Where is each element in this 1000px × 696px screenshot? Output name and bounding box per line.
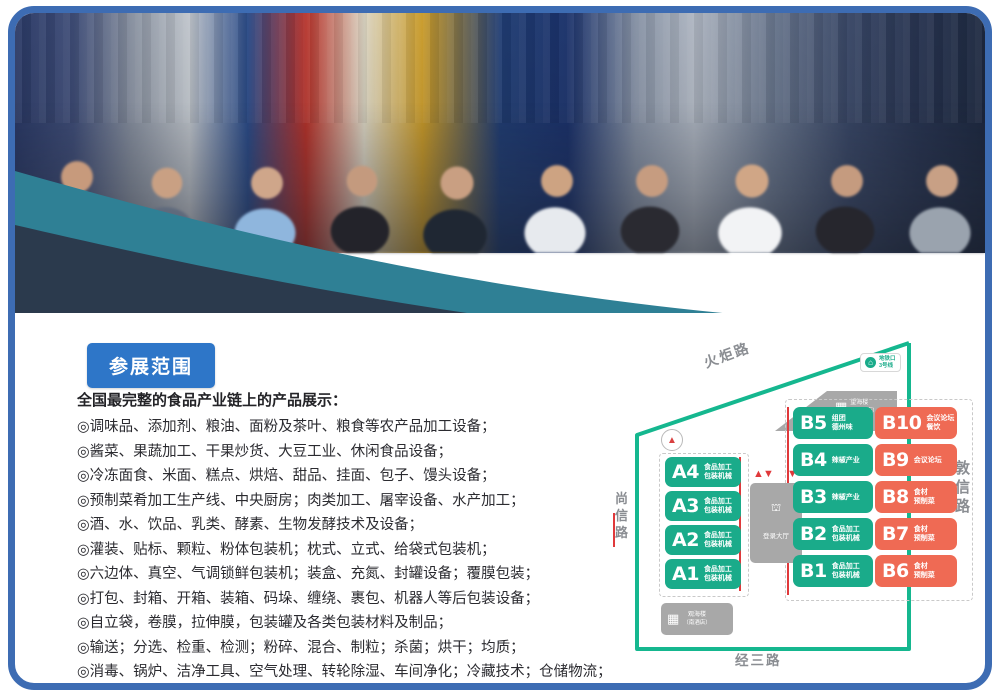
hall-B2-id: B2 xyxy=(800,523,827,545)
hall-B1[interactable]: B1 食品加工包装机械 xyxy=(793,555,873,587)
red-path-left xyxy=(613,513,615,547)
road-label-shangxin: 尚信路 xyxy=(615,491,629,542)
scope-item: ◎调味品、添加剂、粮油、面粉及茶叶、粮食等农产品加工设备； xyxy=(77,415,597,440)
hall-B6-id: B6 xyxy=(882,560,909,582)
south-hotel-line1: 观海楼 xyxy=(683,611,711,619)
metro-label-line2: 3号线 xyxy=(879,363,896,370)
hall-B9-id: B9 xyxy=(882,449,909,471)
hall-A1-id: A1 xyxy=(672,563,699,585)
south-hotel-line2: （南酒店） xyxy=(683,619,711,627)
entrance-arrow-down-icon: ▼ xyxy=(763,469,774,480)
page-frame: 参展范围 全国最完整的食品产业链上的产品展示： ◎调味品、添加剂、粮油、面粉及茶… xyxy=(8,6,992,690)
scope-text-block: 全国最完整的食品产业链上的产品展示： ◎调味品、添加剂、粮油、面粉及茶叶、粮食等… xyxy=(77,388,597,685)
hall-B10-name: 会议论坛餐饮 xyxy=(926,414,954,432)
scope-intro-line: 全国最完整的食品产业链上的产品展示： xyxy=(77,388,597,412)
hall-A3-name: 食品加工包装机械 xyxy=(704,497,732,515)
hall-A1-name: 食品加工包装机械 xyxy=(704,565,732,583)
hall-A2[interactable]: A2 食品加工包装机械 xyxy=(665,525,741,555)
scope-title-pill: 参展范围 xyxy=(87,343,215,388)
scope-item: ◎酱菜、果蔬加工、干果炒货、大豆工业、休闲食品设备； xyxy=(77,440,597,465)
hall-B9[interactable]: B9 会议论坛 xyxy=(875,444,957,476)
hall-A4[interactable]: A4 食品加工包装机械 xyxy=(665,457,741,487)
hall-A3[interactable]: A3 食品加工包装机械 xyxy=(665,491,741,521)
hall-B2-name: 食品加工包装机械 xyxy=(832,525,860,543)
hall-A4-id: A4 xyxy=(672,461,699,483)
scope-item: ◎预制菜肴加工生产线、中央厨房；肉类加工、屠宰设备、水产加工； xyxy=(77,489,597,514)
hall-B8-name: 食材预制菜 xyxy=(914,488,935,506)
wave-svg xyxy=(15,133,985,313)
hall-A1[interactable]: A1 食品加工包装机械 xyxy=(665,559,741,589)
hall-A4-name: 食品加工包装机械 xyxy=(704,463,732,481)
hall-B9-name: 会议论坛 xyxy=(914,456,942,465)
scope-item: ◎输送；分选、检重、检测；粉碎、混合、制粒；杀菌；烘干；均质； xyxy=(77,636,597,661)
wave-decoration xyxy=(15,133,985,313)
hall-B2[interactable]: B2 食品加工包装机械 xyxy=(793,518,873,550)
hall-B5-id: B5 xyxy=(800,412,827,434)
hall-B7[interactable]: B7 食材预制菜 xyxy=(875,518,957,550)
hall-B4-name: 辣椒产业 xyxy=(832,456,860,465)
page-root: 参展范围 全国最完整的食品产业链上的产品展示： ◎调味品、添加剂、粮油、面粉及茶… xyxy=(0,0,1000,696)
scope-item: ◎冷冻面食、米面、糕点、烘焙、甜品、挂面、包子、馒头设备； xyxy=(77,464,597,489)
hall-B3-name: 辣椒产业 xyxy=(832,493,860,502)
venue-floor-map[interactable]: 火炬路 尚信路 敦信路 经三路 ⌂ 地铁口 3号线 ▦ 望海楼 （北酒店） xyxy=(607,331,987,681)
metro-entrance-badge[interactable]: ⌂ 地铁口 3号线 xyxy=(860,353,901,372)
hall-B10-id: B10 xyxy=(882,412,921,434)
hall-B4-id: B4 xyxy=(800,449,827,471)
scope-item: ◎消毒、锅炉、洁净工具、空气处理、转轮除湿、车间净化；冷藏技术；仓储物流； xyxy=(77,660,597,685)
hall-B10[interactable]: B10 会议论坛餐饮 xyxy=(875,407,957,439)
hall-B7-id: B7 xyxy=(882,523,909,545)
hall-A3-id: A3 xyxy=(672,495,699,517)
hall-B3-id: B3 xyxy=(800,486,827,508)
hall-B6[interactable]: B6 食材预制菜 xyxy=(875,555,957,587)
hall-B7-name: 食材预制菜 xyxy=(914,525,935,543)
scope-item: ◎灌装、贴标、颗粒、粉体包装机；枕式、立式、给袋式包装机； xyxy=(77,538,597,563)
south-hotel-building[interactable]: ▦ 观海楼 （南酒店） xyxy=(661,603,733,635)
hall-B1-name: 食品加工包装机械 xyxy=(832,562,860,580)
hall-B8-id: B8 xyxy=(882,486,909,508)
scope-item: ◎六边体、真空、气调锁鲜包装机；装盒、充氮、封罐设备；覆膜包装； xyxy=(77,562,597,587)
compass-rose-icon: ▲ xyxy=(661,429,683,451)
metro-icon: ⌂ xyxy=(865,357,876,368)
scope-item: ◎打包、封箱、开箱、装箱、码垛、缠绕、裹包、机器人等后包装设备； xyxy=(77,587,597,612)
building-icon-south: ▦ xyxy=(667,612,679,627)
scope-item: ◎自立袋，卷膜，拉伸膜，包装罐及各类包装材料及制品； xyxy=(77,611,597,636)
scope-title-label: 参展范围 xyxy=(109,356,193,378)
scope-item: ◎酒、水、饮品、乳类、酵素、生物发酵技术及设备； xyxy=(77,513,597,538)
hall-B4[interactable]: B4 辣椒产业 xyxy=(793,444,873,476)
hall-A2-name: 食品加工包装机械 xyxy=(704,531,732,549)
hall-B8[interactable]: B8 食材预制菜 xyxy=(875,481,957,513)
hall-B5[interactable]: B5 组团德州味 xyxy=(793,407,873,439)
hall-A2-id: A2 xyxy=(672,529,699,551)
hall-B6-name: 食材预制菜 xyxy=(914,562,935,580)
hall-B5-name: 组团德州味 xyxy=(832,414,853,432)
hero-banner xyxy=(15,13,985,313)
road-label-jingsan: 经三路 xyxy=(735,649,782,669)
hall-B1-id: B1 xyxy=(800,560,827,582)
hall-B3[interactable]: B3 辣椒产业 xyxy=(793,481,873,513)
